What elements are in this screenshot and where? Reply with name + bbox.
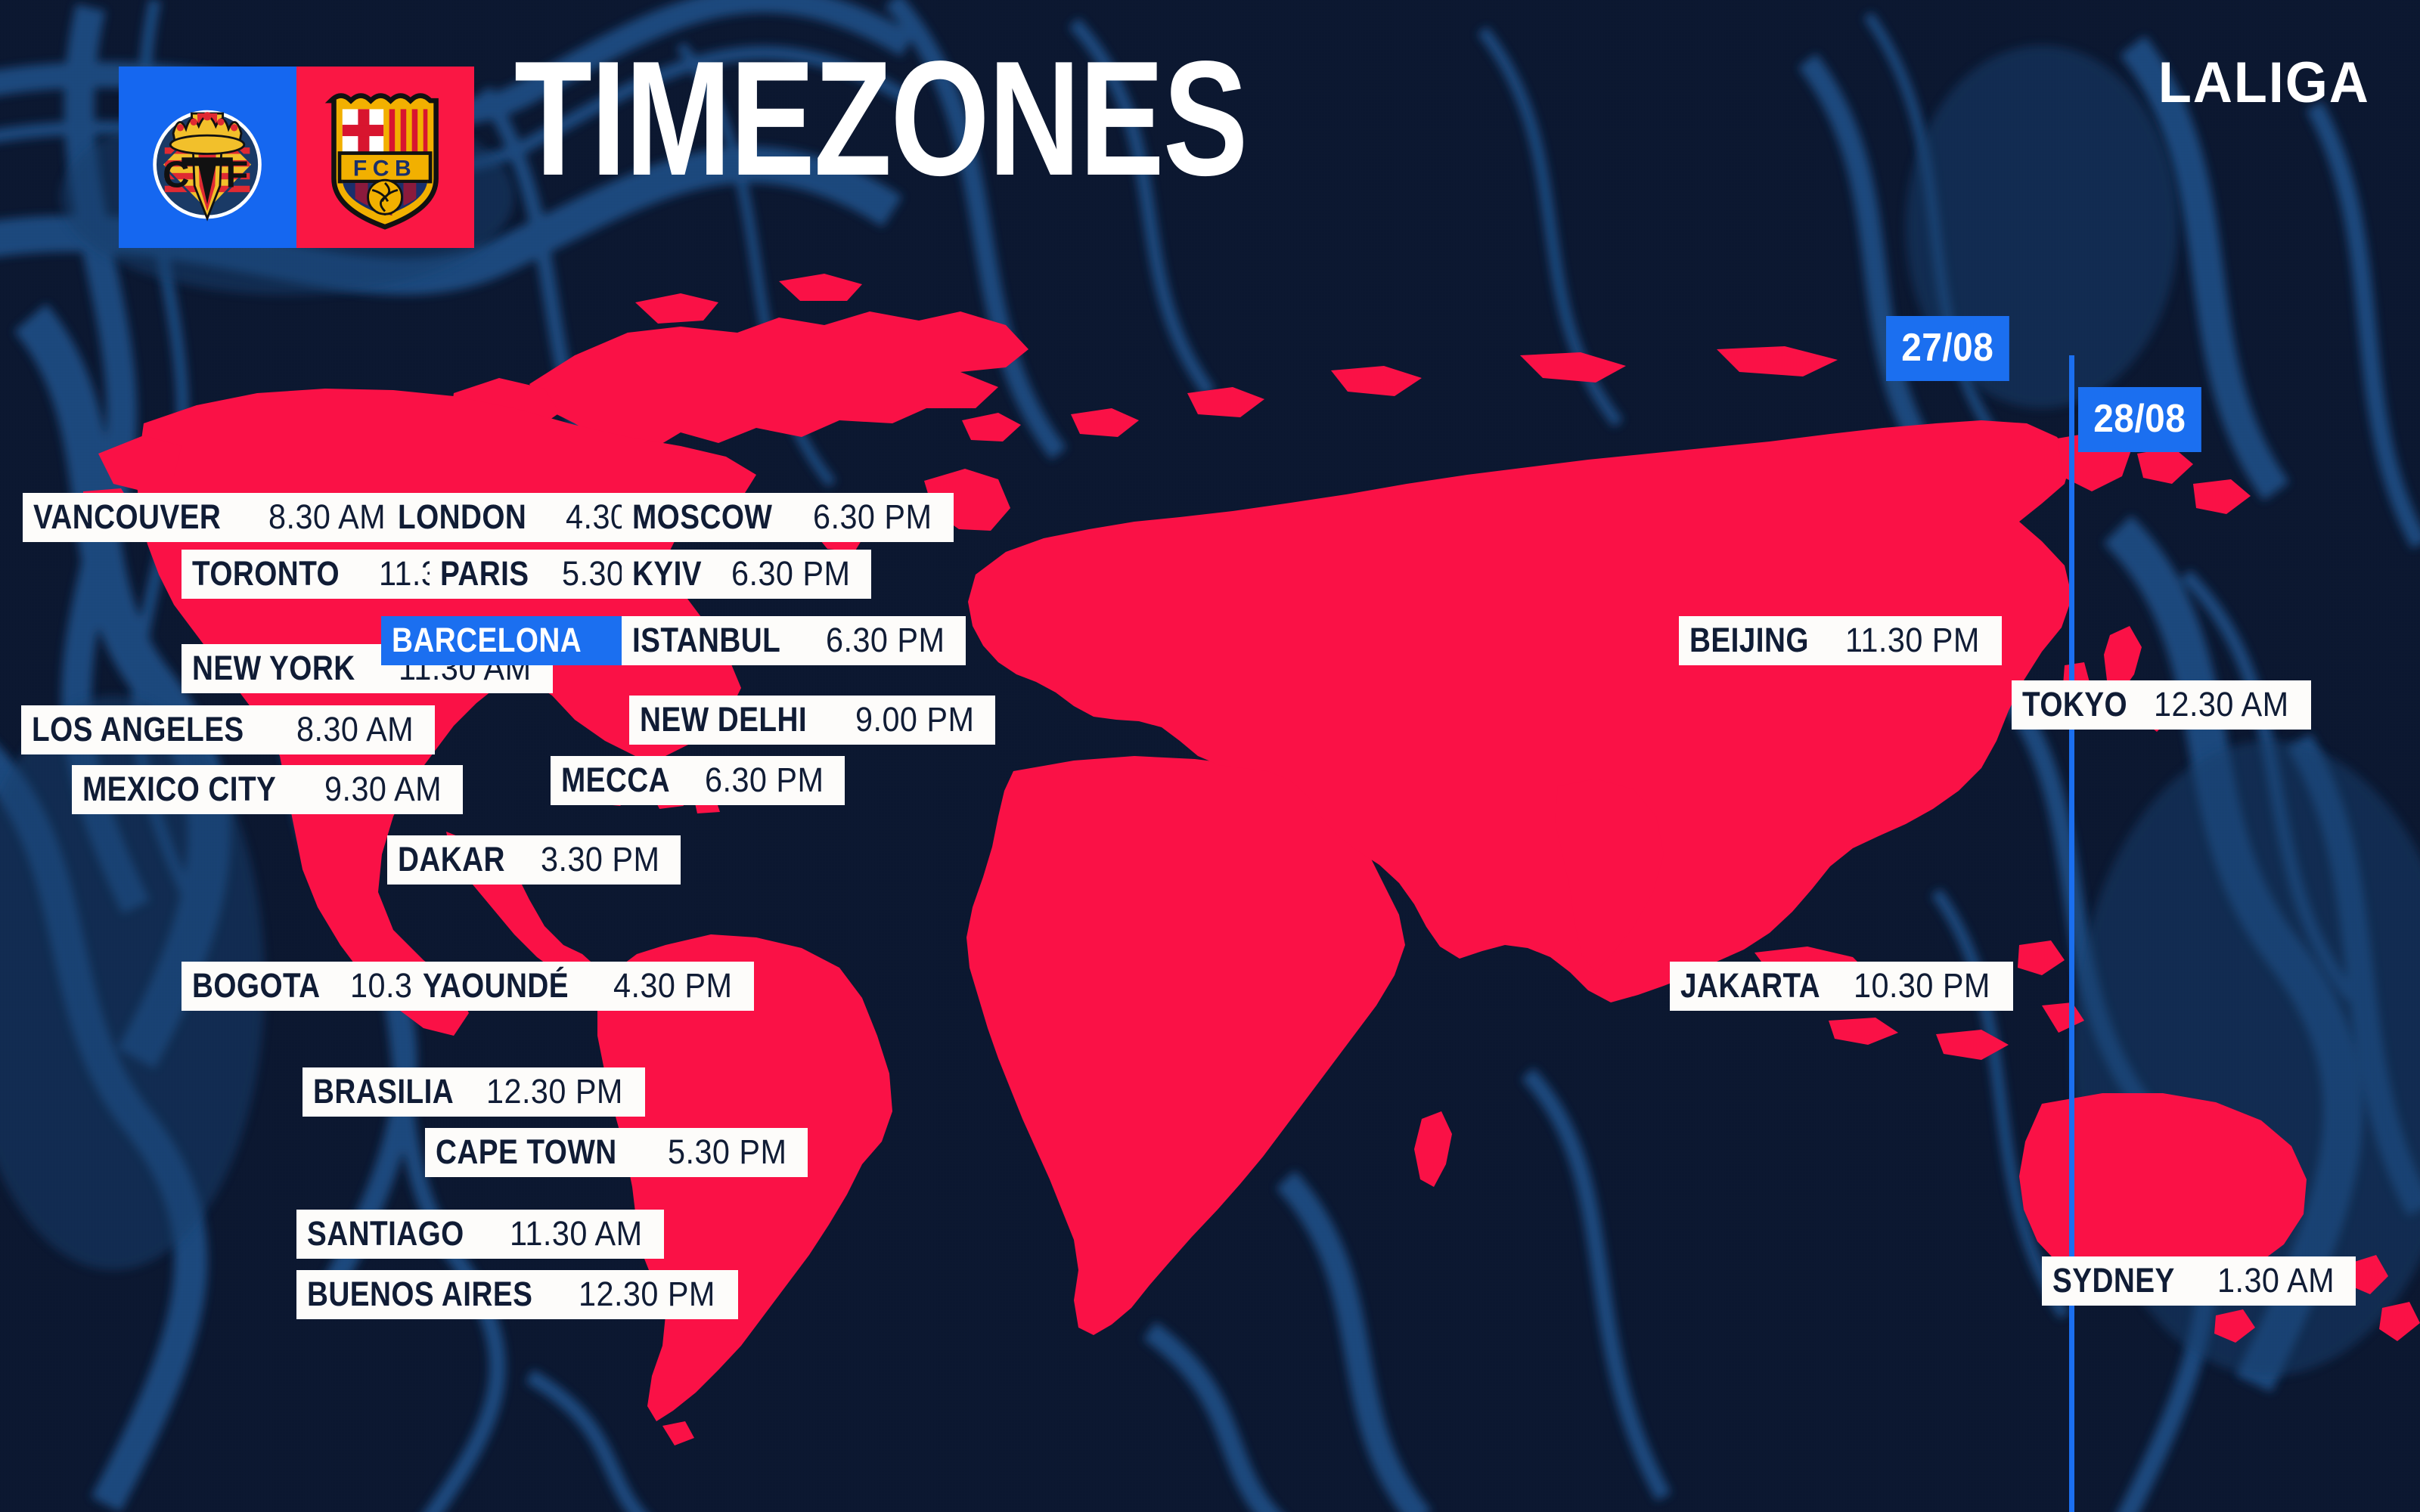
city-name: NEW YORK xyxy=(192,651,355,685)
city-time-label: SANTIAGO11.30 AM xyxy=(296,1210,664,1259)
city-time-label: MECCA6.30 PM xyxy=(551,756,845,805)
page-title: TIMEZONES xyxy=(514,36,1247,200)
fc-barcelona-crest-icon: FCB xyxy=(309,79,461,235)
city-name: JAKARTA xyxy=(1680,968,1820,1002)
city-time: 1.30 AM xyxy=(2217,1263,2335,1297)
city-time-label: BEIJING11.30 PM xyxy=(1679,616,2002,665)
city-time: 9.30 AM xyxy=(324,772,442,806)
city-time-label: ISTANBUL6.30 PM xyxy=(622,616,966,665)
city-name: SANTIAGO xyxy=(307,1216,464,1250)
city-name: PARIS xyxy=(440,556,529,590)
city-name: VANCOUVER xyxy=(33,500,221,534)
international-date-line xyxy=(2069,355,2074,1512)
city-time: 6.30 PM xyxy=(705,763,824,797)
city-time-label: TOKYO12.30 AM xyxy=(2012,680,2311,730)
city-name: KYIV xyxy=(632,556,702,590)
city-time: 8.30 AM xyxy=(268,500,386,534)
date-badge-after-dateline: 28/08 xyxy=(2078,387,2201,452)
city-time-label: SYDNEY1.30 AM xyxy=(2042,1256,2356,1306)
city-name: SYDNEY xyxy=(2052,1263,2175,1297)
city-name: MOSCOW xyxy=(632,500,772,534)
svg-text:FCB: FCB xyxy=(353,156,417,181)
city-name: LOS ANGELES xyxy=(32,712,244,746)
city-name: DAKAR xyxy=(398,842,505,876)
city-name: CAPE TOWN xyxy=(436,1135,617,1169)
city-name: NEW DELHI xyxy=(640,702,807,736)
city-time: 8.30 AM xyxy=(296,712,414,746)
laliga-logo: LALIGA xyxy=(2158,54,2370,112)
city-name: LONDON xyxy=(398,500,526,534)
city-name: TORONTO xyxy=(192,556,340,590)
city-name: BUENOS AIRES xyxy=(307,1277,532,1311)
city-time: 9.00 PM xyxy=(855,702,974,736)
city-time-label: BUENOS AIRES12.30 PM xyxy=(296,1270,738,1319)
city-time-label: VANCOUVER8.30 AM xyxy=(23,493,406,542)
city-time-label: KYIV6.30 PM xyxy=(622,550,871,599)
match-crests: C F xyxy=(119,67,474,248)
city-name: TOKYO xyxy=(2022,687,2127,721)
city-name: BOGOTA xyxy=(192,968,321,1002)
villarreal-cf-crest-icon: C F xyxy=(131,79,284,235)
city-time: 11.30 PM xyxy=(1845,623,1980,657)
fc-barcelona-crest: FCB xyxy=(296,67,474,248)
city-time: 10.30 PM xyxy=(1854,968,1990,1002)
city-name: YAOUNDÉ xyxy=(423,968,569,1002)
date-badge-before-dateline: 27/08 xyxy=(1886,316,2009,381)
city-name: BARCELONA xyxy=(392,623,582,657)
city-time-label: JAKARTA10.30 PM xyxy=(1670,962,2013,1011)
city-time: 12.30 AM xyxy=(2154,687,2289,721)
city-name: MECCA xyxy=(561,763,670,797)
city-time-label: CAPE TOWN5.30 PM xyxy=(425,1128,808,1177)
city-time: 6.30 PM xyxy=(813,500,932,534)
city-time-label: LOS ANGELES8.30 AM xyxy=(21,705,435,754)
city-time: 4.30 PM xyxy=(613,968,732,1002)
city-time: 12.30 PM xyxy=(486,1074,623,1108)
city-time-label: MOSCOW6.30 PM xyxy=(622,493,954,542)
city-time: 6.30 PM xyxy=(826,623,945,657)
villarreal-cf-crest: C F xyxy=(119,67,296,248)
city-time-label: YAOUNDÉ4.30 PM xyxy=(412,962,754,1011)
city-name: MEXICO CITY xyxy=(82,772,276,806)
city-time: 5.30 PM xyxy=(668,1135,786,1169)
city-name: BRASILIA xyxy=(313,1074,454,1108)
city-time: 6.30 PM xyxy=(731,556,850,590)
city-time-label: BRASILIA12.30 PM xyxy=(302,1067,645,1117)
city-time-label: DAKAR3.30 PM xyxy=(387,835,681,885)
header: C F xyxy=(0,0,2420,249)
city-name: ISTANBUL xyxy=(632,623,780,657)
city-time-label: NEW DELHI9.00 PM xyxy=(629,696,995,745)
timezones-graphic: C F xyxy=(0,0,2420,1512)
city-time: 11.30 AM xyxy=(510,1216,643,1250)
city-time: 3.30 PM xyxy=(541,842,659,876)
city-time: 12.30 PM xyxy=(579,1277,715,1311)
city-name: BEIJING xyxy=(1689,623,1809,657)
city-time-label: MEXICO CITY9.30 AM xyxy=(72,765,463,814)
